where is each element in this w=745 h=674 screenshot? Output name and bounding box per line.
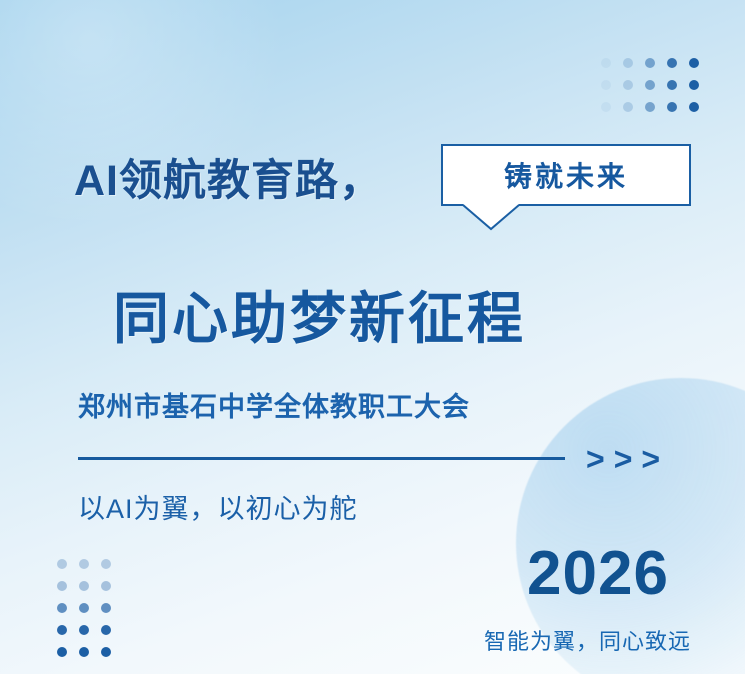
decorative-dot	[79, 603, 89, 613]
decorative-dot	[101, 647, 111, 657]
dot-grid-top-right	[601, 58, 699, 112]
dot-grid-bottom-left	[57, 559, 111, 657]
chevron-right-icon: >	[586, 443, 605, 475]
headline-line-1: AI领航教育路，	[74, 146, 383, 208]
decorative-dot	[689, 102, 699, 112]
badge-label: 铸就未来	[504, 155, 628, 195]
speech-bubble-badge: 铸就未来	[441, 144, 691, 206]
decorative-dot	[667, 102, 677, 112]
decorative-dot	[57, 559, 67, 569]
chevron-right-icon: >	[614, 443, 633, 475]
decorative-dot	[623, 80, 633, 90]
year-label: 2026	[527, 543, 669, 605]
decorative-dot	[79, 581, 89, 591]
decorative-dot	[623, 102, 633, 112]
decorative-dot	[79, 559, 89, 569]
decorative-dot	[601, 102, 611, 112]
decorative-dot	[101, 625, 111, 635]
poster-canvas: AI领航教育路， 铸就未来 同心助梦新征程 郑州市基石中学全体教职工大会 >>>…	[0, 0, 745, 674]
divider-rule	[78, 457, 565, 460]
decorative-dot	[601, 80, 611, 90]
decorative-dot	[79, 647, 89, 657]
decorative-dot	[57, 647, 67, 657]
decorative-dot	[57, 625, 67, 635]
page-title: 同心助梦新征程	[113, 274, 526, 355]
decorative-dot	[57, 581, 67, 591]
decorative-dot	[601, 58, 611, 68]
decorative-dot	[101, 603, 111, 613]
chevron-right-icon: >	[641, 443, 660, 475]
decorative-dot	[101, 559, 111, 569]
speech-bubble-tail-icon	[441, 204, 691, 232]
decorative-dot	[667, 80, 677, 90]
decorative-dot	[645, 102, 655, 112]
decorative-dot	[689, 58, 699, 68]
footer-slogan: 智能为翼，同心致远	[484, 624, 691, 656]
decorative-dot	[57, 603, 67, 613]
decorative-dot	[101, 581, 111, 591]
decorative-dot	[623, 58, 633, 68]
decorative-dot	[79, 625, 89, 635]
event-subtitle: 郑州市基石中学全体教职工大会	[78, 385, 470, 424]
decorative-dot	[645, 58, 655, 68]
decorative-dot	[667, 58, 677, 68]
chevron-arrows-icon: >>>	[586, 441, 660, 477]
decorative-dot	[645, 80, 655, 90]
slogan-text: 以AI为翼，以初心为舵	[78, 487, 358, 526]
decorative-dot	[689, 80, 699, 90]
